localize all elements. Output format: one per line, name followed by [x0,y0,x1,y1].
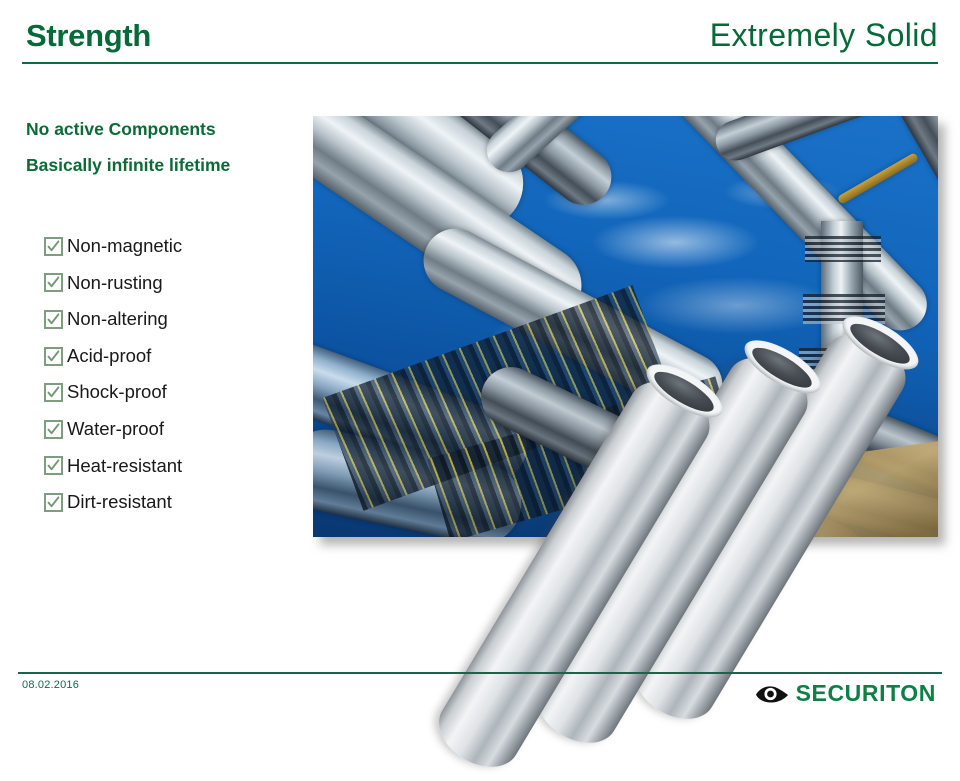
checkbox-checked-icon [44,347,63,366]
list-item: Non-rusting [44,265,306,302]
list-item: Acid-proof [44,338,306,375]
list-item: Water-proof [44,411,306,448]
list-item-label: Non-rusting [67,274,163,293]
lead-line-1: No active Components [26,121,306,139]
checkbox-checked-icon [44,456,63,475]
checkbox-checked-icon [44,273,63,292]
list-item: Dirt-resistant [44,484,306,521]
steel-tube-bundle [580,380,960,680]
list-item: Shock-proof [44,374,306,411]
list-item-label: Acid-proof [67,347,151,366]
page-title: Strength [26,18,151,54]
checkbox-checked-icon [44,237,63,256]
footer-divider [18,672,942,674]
feature-checklist: Non-magnetic Non-rusting Non-altering [44,228,306,521]
list-item: Non-altering [44,301,306,338]
lead-line-2: Basically infinite lifetime [26,157,306,175]
securiton-logo: SECURITON [755,682,936,705]
list-item: Non-magnetic [44,228,306,265]
checkbox-checked-icon [44,383,63,402]
brand-name: SECURITON [796,682,936,705]
footer-date: 08.02.2016 [22,679,79,691]
checkbox-checked-icon [44,310,63,329]
lead-text-block: No active Components Basically infinite … [26,121,306,174]
list-item-label: Non-magnetic [67,237,182,256]
page-subtitle: Extremely Solid [710,17,938,54]
checkbox-checked-icon [44,493,63,512]
list-item-label: Water-proof [67,420,164,439]
list-item-label: Heat-resistant [67,457,182,476]
list-item: Heat-resistant [44,448,306,485]
list-item-label: Shock-proof [67,383,167,402]
eye-icon [755,684,789,703]
header-divider [22,62,938,64]
list-item-label: Dirt-resistant [67,493,172,512]
list-item-label: Non-altering [67,310,168,329]
slide-canvas: Strength Extremely Solid No active Compo… [0,0,960,720]
checkbox-checked-icon [44,420,63,439]
